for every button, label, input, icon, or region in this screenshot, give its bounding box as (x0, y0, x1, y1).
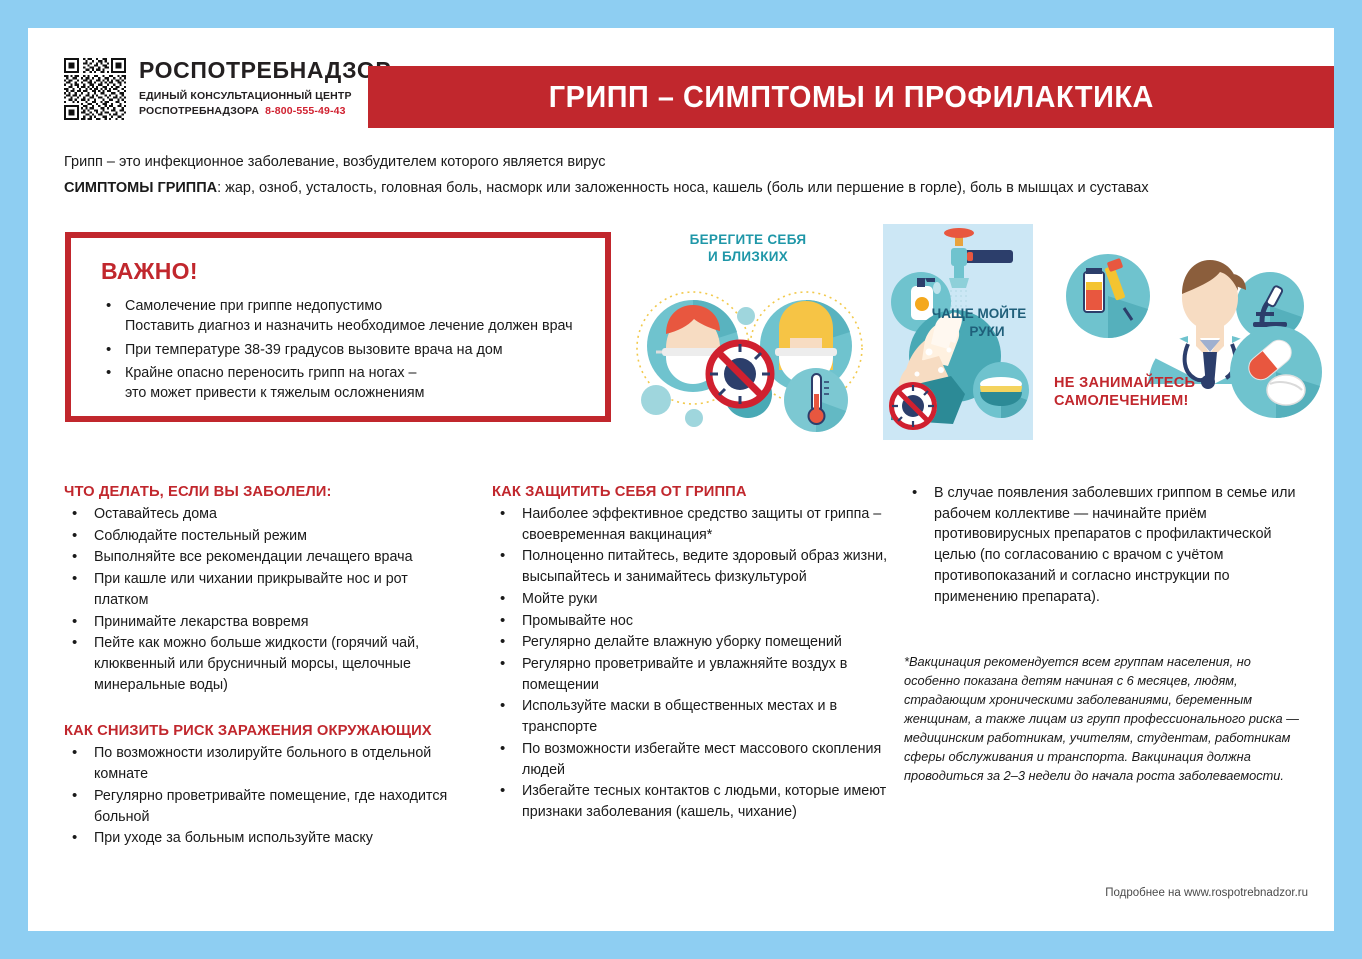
caption-no-self-medication: НЕ ЗАНИМАЙТЕСЬ САМОЛЕЧЕНИЕМ! (1054, 374, 1244, 410)
important-box: ВАЖНО! Самолечение при гриппе недопустим… (65, 232, 611, 422)
intro-line-2: СИМПТОМЫ ГРИППА: жар, озноб, усталость, … (64, 178, 1304, 200)
illustration-doctor-group: НЕ ЗАНИМАЙТЕСЬ САМОЛЕЧЕНИЕМ! (1048, 224, 1328, 449)
brand-subtitle-line2: РОСПОТРЕБНАДЗОРА8-800-555-49-43 (139, 104, 391, 119)
poster-header: РОСПОТРЕБНАДЗОР ЕДИНЫЙ КОНСУЛЬТАЦИОННЫЙ … (28, 28, 1334, 140)
intro-line-1: Грипп – это инфекционное заболевание, во… (64, 152, 1304, 174)
list-item: Регулярно проветривайте и увлажняйте воз… (492, 654, 892, 695)
list-item: Принимайте лекарства вовремя (64, 612, 464, 633)
people-with-masks-illustration (628, 276, 873, 446)
list-item: Мойте руки (492, 589, 892, 610)
illustration-area: БЕРЕГИТЕ СЕБЯ И БЛИЗКИХ (628, 224, 1328, 449)
brand-text: РОСПОТРЕБНАДЗОР ЕДИНЫЙ КОНСУЛЬТАЦИОННЫЙ … (139, 58, 391, 119)
brand-title: РОСПОТРЕБНАДЗОР (139, 59, 391, 82)
caption-protect-line2: И БЛИЗКИХ (658, 249, 838, 266)
list-item: Избегайте тесных контактов с людьми, кот… (492, 781, 892, 822)
brand-subtitle-line1: ЕДИНЫЙ КОНСУЛЬТАЦИОННЫЙ ЦЕНТР (139, 89, 391, 104)
intro-block: Грипп – это инфекционное заболевание, во… (64, 152, 1304, 200)
list-reduce-risk: По возможности изолируйте больного в отд… (64, 743, 464, 849)
poster-card: РОСПОТРЕБНАДЗОР ЕДИНЫЙ КОНСУЛЬТАЦИОННЫЙ … (28, 28, 1334, 931)
caption-protect: БЕРЕГИТЕ СЕБЯ И БЛИЗКИХ (658, 232, 838, 266)
illustration-protect-group: БЕРЕГИТЕ СЕБЯ И БЛИЗКИХ (628, 224, 873, 449)
virus-prohibited-icon (706, 340, 774, 408)
spacer (64, 696, 464, 722)
hotline-phone[interactable]: 8-800-555-49-43 (265, 105, 345, 117)
list-item: Соблюдайте постельный режим (64, 526, 464, 547)
list-item: Крайне опасно переносить грипп на ногах … (103, 363, 587, 404)
list-item: Самолечение при гриппе недопустимоПостав… (103, 296, 587, 337)
list-item: По возможности избегайте мест массового … (492, 739, 892, 780)
vaccine-vial-icon (1066, 254, 1150, 338)
list-protect: Наиболее эффективное средство защиты от … (492, 504, 892, 823)
list-item: Регулярно проветривайте помещение, где н… (64, 786, 464, 827)
list-item: При температуре 38-39 градусов вызовите … (103, 340, 587, 360)
thermometer-icon (784, 368, 848, 432)
list-item: Оставайтесь дома (64, 504, 464, 525)
list-item: Наиболее эффективное средство защиты от … (492, 504, 892, 545)
symptoms-label: СИМПТОМЫ ГРИППА (64, 180, 217, 196)
soap-bar-icon (973, 362, 1029, 418)
list-item: Используйте маски в общественных местах … (492, 696, 892, 737)
list-item: Регулярно делайте влажную уборку помещен… (492, 632, 892, 653)
caption-noself-line1: НЕ ЗАНИМАЙТЕСЬ (1054, 374, 1244, 392)
brand-subtitle: ЕДИНЫЙ КОНСУЛЬТАЦИОННЫЙ ЦЕНТР РОСПОТРЕБН… (139, 89, 391, 119)
illustration-wash-panel: ЧАЩЕ МОЙТЕ РУКИ ЧАЩЕ МОЙТЕ РУКИ (883, 224, 1033, 440)
important-list: Самолечение при гриппе недопустимоПостав… (71, 296, 605, 403)
list-item: Выполняйте все рекомендации лечащего вра… (64, 547, 464, 568)
washing-hands-illustration: ЧАЩЕ МОЙТЕ РУКИ (883, 224, 1033, 440)
list-item: Полноценно питайтесь, ведите здоровый об… (492, 546, 892, 587)
column-protect-yourself: КАК ЗАЩИТИТЬ СЕБЯ ОТ ГРИППА Наиболее эфф… (492, 483, 892, 824)
list-antiviral: В случае появления заболевших гриппом в … (904, 483, 1304, 607)
column-what-to-do: ЧТО ДЕЛАТЬ, ЕСЛИ ВЫ ЗАБОЛЕЛИ: Оставайтес… (64, 483, 464, 850)
list-item: Пейте как можно больше жидкости (горячий… (64, 633, 464, 695)
page-title: ГРИПП – СИМПТОМЫ И ПРОФИЛАКТИКА (548, 79, 1153, 115)
caption-protect-line1: БЕРЕГИТЕ СЕБЯ (658, 232, 838, 249)
list-what-to-do: Оставайтесь дома Соблюдайте постельный р… (64, 504, 464, 695)
title-banner: ГРИПП – СИМПТОМЫ И ПРОФИЛАКТИКА (368, 66, 1334, 128)
faucet-icon (944, 228, 1013, 288)
virus-prohibited-icon (889, 382, 937, 430)
caption-noself-line2: САМОЛЕЧЕНИЕМ! (1054, 392, 1244, 410)
list-item: При уходе за больным используйте маску (64, 828, 464, 849)
section-heading-sick: ЧТО ДЕЛАТЬ, ЕСЛИ ВЫ ЗАБОЛЕЛИ: (64, 483, 452, 500)
caption-wash-line1: ЧАЩЕ МОЙТЕ (932, 306, 1026, 321)
vaccination-footnote: *Вакцинация рекомендуется всем группам н… (904, 653, 1304, 786)
list-item: При кашле или чихании прикрывайте нос и … (64, 569, 464, 610)
qr-code-icon (64, 58, 126, 120)
symptoms-text: : жар, озноб, усталость, головная боль, … (217, 180, 1148, 196)
list-item: В случае появления заболевших гриппом в … (904, 483, 1304, 607)
column-antiviral-and-note: В случае появления заболевших гриппом в … (904, 483, 1304, 786)
important-heading: ВАЖНО! (71, 238, 605, 285)
brand-block: РОСПОТРЕБНАДЗОР ЕДИНЫЙ КОНСУЛЬТАЦИОННЫЙ … (64, 58, 391, 120)
content-columns: ЧТО ДЕЛАТЬ, ЕСЛИ ВЫ ЗАБОЛЕЛИ: Оставайтес… (64, 483, 1308, 921)
brand-subtitle-line2-text: РОСПОТРЕБНАДЗОРА (139, 105, 259, 117)
section-heading-protect: КАК ЗАЩИТИТЬ СЕБЯ ОТ ГРИППА (492, 483, 880, 500)
list-item: Промывайте нос (492, 611, 892, 632)
section-heading-reduce-risk: КАК СНИЗИТЬ РИСК ЗАРАЖЕНИЯ ОКРУЖАЮЩИХ (64, 722, 452, 739)
list-item: По возможности изолируйте больного в отд… (64, 743, 464, 784)
more-info-link[interactable]: Подробнее на www.rospotrebnadzor.ru (1105, 887, 1308, 899)
caption-wash-line2: РУКИ (969, 324, 1004, 339)
